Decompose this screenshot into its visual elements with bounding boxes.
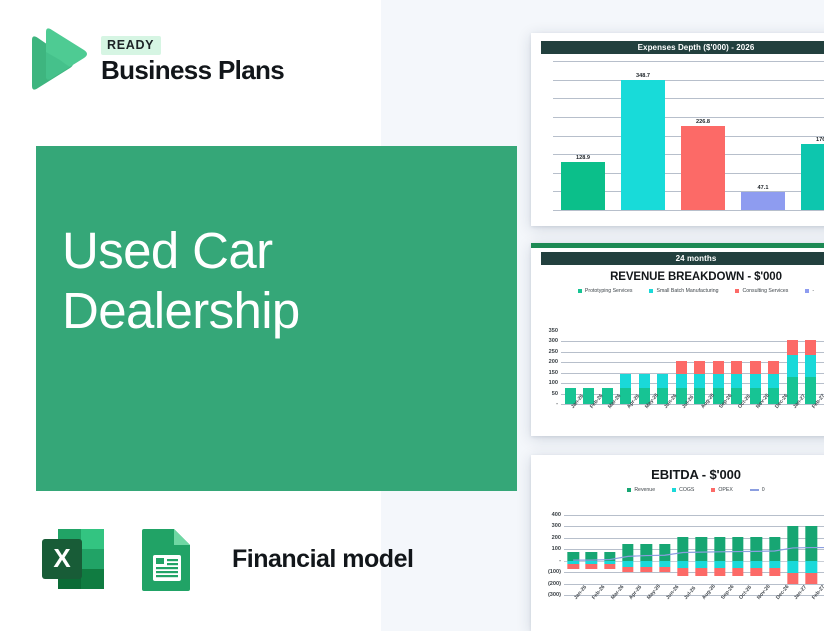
bar-segment [732,537,743,560]
x-tick: Aug-26 [691,404,710,430]
bar-segment [769,561,780,568]
x-tick: Jul-26 [674,595,692,621]
x-tick: May-26 [635,404,654,430]
excel-icon: X [36,521,112,597]
bar-segment [604,564,615,569]
double-play-logo-icon [26,26,88,92]
stacked-bar[interactable] [676,331,687,404]
bar-column [601,515,619,595]
stacked-bar[interactable] [787,331,798,404]
legend-label: Revenue [634,487,655,493]
bar-column: 348.7 [613,61,673,210]
positive-stack [622,515,633,561]
bar-segment [787,526,798,561]
revenue-legend: Prototyping ServicesSmall Batch Manufact… [531,288,824,294]
y-tick-label: - [556,401,558,407]
y-tick-label: 200 [549,359,558,365]
bar-segment [732,568,743,576]
stacked-bar[interactable] [694,331,705,404]
x-tick: Dec-26 [765,404,784,430]
bar-segment [787,355,798,377]
negative-stack [769,561,780,595]
slide-canvas: READY Business Plans Used Car Dealership… [0,0,824,631]
bar-segment [622,567,633,572]
legend-item: Small Batch Manufacturing [649,288,718,294]
bar-segment [641,567,652,572]
bar-segment [696,537,707,560]
bar-column [564,515,582,595]
bar-segment [806,526,817,561]
y-tick-label: 400 [552,512,561,518]
expenses-plot: 128.9348.7226.847.1176.5 [553,61,824,210]
negative-stack [604,561,615,595]
bar-column [619,515,637,595]
bar-segment [731,361,742,374]
y-tick-label: 300 [552,523,561,529]
legend-label: Consulting Services [742,288,788,294]
bar-column [802,515,820,595]
stacked-bar[interactable] [657,331,668,404]
ebitda-title: EBITDA - $'000 [531,467,824,482]
bar-segment [696,561,707,568]
bar-segment [567,552,578,561]
stacked-bar[interactable] [602,331,613,404]
legend-swatch [649,289,653,293]
bar-segment [787,573,798,584]
stacked-bar[interactable] [604,515,615,595]
bar-segment [714,568,725,576]
svg-text:X: X [53,543,71,573]
brand-name: Business Plans [101,57,284,84]
positive-stack [586,515,597,561]
bar-value-label: 348.7 [636,73,650,79]
positive-stack [659,515,670,561]
x-tick: Jan-26 [561,404,580,430]
bar-segment [769,537,780,560]
x-tick: May-26 [637,595,655,621]
bar-segment [713,374,724,389]
positive-stack [806,515,817,561]
y-tick-label: (200) [548,581,561,587]
legend-swatch [750,489,759,490]
bar-segment [620,374,631,389]
stacked-bar[interactable] [620,331,631,404]
chart-card-revenue[interactable]: 24 months REVENUE BREAKDOWN - $'000 Prot… [531,243,824,436]
x-tick: Jan-27 [783,404,802,430]
stacked-bar[interactable] [659,515,670,595]
bar-segment [768,374,779,389]
legend-item: Prototyping Services [578,288,633,294]
bar-segment [659,567,670,572]
x-tick: Apr-26 [619,595,637,621]
stacked-bar[interactable] [639,331,650,404]
bar-segment [769,568,780,576]
legend-swatch [711,488,715,492]
negative-stack [714,561,725,595]
chart-card-expenses[interactable]: Expenses Depth ($'000) - 2026 128.9348.7… [531,33,824,226]
stacked-bar[interactable] [567,515,578,595]
revenue-accent-bar [531,243,824,248]
negative-stack [677,561,688,595]
bar-column [617,331,636,404]
negative-stack [622,561,633,595]
x-tick: Feb-26 [582,595,600,621]
legend-label: 0 [762,487,765,493]
ready-badge: READY [101,36,161,55]
legend-label: Prototyping Services [585,288,633,294]
legend-label: OPEX [718,487,732,493]
bar-segment [677,537,688,560]
brand-lockup: READY Business Plans [26,26,284,92]
legend-item: OPEX [711,487,732,493]
negative-stack [567,561,578,595]
bar-segment [694,374,705,389]
x-tick: Mar-27 [820,595,824,621]
bar-column: 47.1 [733,61,793,210]
positive-stack [714,515,725,561]
bar-segment [731,374,742,389]
legend-label: Small Batch Manufacturing [656,288,718,294]
revenue-title: REVENUE BREAKDOWN - $'000 [531,271,824,283]
bar-segment [677,568,688,576]
hero-block: Used Car Dealership [36,146,517,491]
positive-stack [696,515,707,561]
legend-swatch [735,289,739,293]
x-tick: Mar-26 [601,595,619,621]
x-tick: Aug-26 [692,595,710,621]
page-title: Used Car Dealership [62,221,492,341]
bar-segment [714,537,725,560]
y-tick-label: (300) [548,592,561,598]
bar-column [692,515,710,595]
bar-column [729,515,747,595]
positive-stack [787,515,798,561]
bar-segment [677,561,688,568]
bar[interactable]: 128.9 [561,162,604,210]
bar-segment [586,552,597,561]
stacked-bar[interactable] [751,515,762,595]
stacked-bar[interactable] [787,515,798,595]
x-tick: Feb-26 [580,404,599,430]
positive-stack [604,515,615,561]
positive-stack [677,515,688,561]
bar[interactable]: 348.7 [621,80,664,210]
bar-column [784,515,802,595]
x-tick: Mar-26 [598,404,617,430]
bar-segment [751,561,762,568]
bar-column [802,331,821,404]
legend-item: - [805,288,814,294]
negative-stack [732,561,743,595]
bar-segment [604,552,615,561]
bar-column: 226.8 [673,61,733,210]
stacked-bar[interactable] [768,331,779,404]
bar-segment [676,361,687,374]
bar-segment [622,544,633,561]
stacked-bar[interactable] [713,331,724,404]
legend-swatch [578,289,582,293]
bar-value-label: 47.1 [758,185,769,191]
gridline [553,210,824,211]
stacked-bar[interactable] [641,515,652,595]
bar-segment [657,374,668,389]
bar-segment [641,544,652,561]
legend-swatch [805,289,809,293]
x-tick: Oct-26 [729,595,747,621]
bar-segment [713,361,724,374]
bar-segment [806,573,817,584]
stacked-bar[interactable] [732,515,743,595]
bar-column [746,331,765,404]
bar-value-label: 176.5 [816,137,824,143]
x-tick: Jan-27 [784,595,802,621]
x-tick: Jul-26 [672,404,691,430]
ebitda-legend: RevenueCOGSOPEX0 [531,487,824,493]
revenue-header: 24 months [541,252,824,265]
positive-stack [641,515,652,561]
bar-segment [694,361,705,374]
bar-segment [750,374,761,389]
legend-swatch [627,488,631,492]
chart-card-ebitda[interactable]: EBITDA - $'000 RevenueCOGSOPEX0 40030020… [531,455,824,631]
x-axis-labels: Jan-26Feb-26Mar-26Apr-26May-26Jun-26Jul-… [561,404,824,430]
bar-segment [696,568,707,576]
y-tick-label: 300 [549,338,558,344]
x-tick: Nov-26 [747,595,765,621]
stacked-bar[interactable] [583,331,594,404]
bar-segment [659,544,670,561]
bar-segment [676,374,687,389]
bar-segment [787,340,798,355]
positive-stack [751,515,762,561]
bar-segment [751,537,762,560]
legend-swatch [672,488,676,492]
negative-stack [787,561,798,595]
bar-column [820,515,824,595]
bar-segment [567,564,578,569]
bar-column [582,515,600,595]
bar-segment [732,561,743,568]
ebitda-plot: 400300200100-(100)(200)(300)Jan-26Feb-26… [564,515,824,595]
financial-model-row: X Financial model [36,521,413,597]
y-tick-label: 50 [552,391,558,397]
bar-column [728,331,747,404]
bar[interactable]: 47.1 [741,192,784,210]
x-axis-labels: Jan-26Feb-26Mar-26Apr-26May-26Jun-26Jul-… [564,595,824,621]
x-tick: Feb-27 [802,595,820,621]
bar-column [637,515,655,595]
google-sheets-icon [128,521,204,597]
bar-column [674,515,692,595]
bar-column [561,331,580,404]
stacked-bar[interactable] [565,331,576,404]
y-tick-label: 150 [549,370,558,376]
stacked-bar[interactable] [677,515,688,595]
bar-segment [586,564,597,569]
x-tick: Nov-26 [746,404,765,430]
bar-column [635,331,654,404]
bar-value-label: 226.8 [696,119,710,125]
x-tick: Sep-26 [709,404,728,430]
bar-segment [787,561,798,574]
stacked-bar[interactable] [806,515,817,595]
x-tick: Dec-26 [765,595,783,621]
x-tick: Jun-26 [656,595,674,621]
bar-column: 176.5 [793,61,824,210]
bar-segment [750,361,761,374]
stacked-bar[interactable] [696,515,707,595]
y-tick-label: 100 [549,380,558,386]
bar-column [747,515,765,595]
y-tick-label: (100) [548,569,561,575]
bar-column [580,331,599,404]
revenue-plot: 35030025020015010050-Jan-26Feb-26Mar-26A… [561,331,824,404]
x-tick: Feb-27 [802,404,821,430]
bar-group: 128.9348.7226.847.1176.5 [553,61,824,210]
legend-label: - [812,288,814,294]
legend-item: COGS [672,487,694,493]
bar-segment [639,374,650,389]
y-tick-label: 100 [552,546,561,552]
stacked-bar[interactable] [714,515,725,595]
positive-stack [732,515,743,561]
bar[interactable]: 176.5 [801,144,824,210]
x-tick: Sep-26 [711,595,729,621]
legend-item: Consulting Services [735,288,788,294]
x-tick: Apr-26 [617,404,636,430]
positive-stack [567,515,578,561]
stacked-bar[interactable] [622,515,633,595]
financial-model-label: Financial model [232,545,413,574]
stacked-bar[interactable] [731,331,742,404]
y-tick-label: 350 [549,328,558,334]
x-tick: Jun-26 [654,404,673,430]
x-tick: Oct-26 [728,404,747,430]
bar-segment [805,340,816,355]
bar[interactable]: 226.8 [681,126,724,210]
legend-label: COGS [679,487,694,493]
negative-stack [659,561,670,595]
bar-segment [751,568,762,576]
stacked-bar[interactable] [805,331,816,404]
y-tick-label: - [559,558,561,564]
stacked-bar[interactable] [750,331,761,404]
y-tick-label: 200 [552,535,561,541]
bar-segment [768,361,779,374]
x-tick: Jan-26 [564,595,582,621]
x-tick: Mar-27 [820,404,824,430]
bar-value-label: 128.9 [576,155,590,161]
bar-segment [805,355,816,377]
legend-item: 0 [750,487,765,493]
y-tick-label: 250 [549,349,558,355]
positive-stack [769,515,780,561]
bar-column [691,331,710,404]
legend-item: Revenue [627,487,655,493]
stacked-bar[interactable] [769,515,780,595]
bar-segment [806,561,817,574]
bar-column: 128.9 [553,61,613,210]
bar-segment [714,561,725,568]
expenses-header: Expenses Depth ($'000) - 2026 [541,41,824,54]
bar-column [765,515,783,595]
stacked-bar[interactable] [586,515,597,595]
